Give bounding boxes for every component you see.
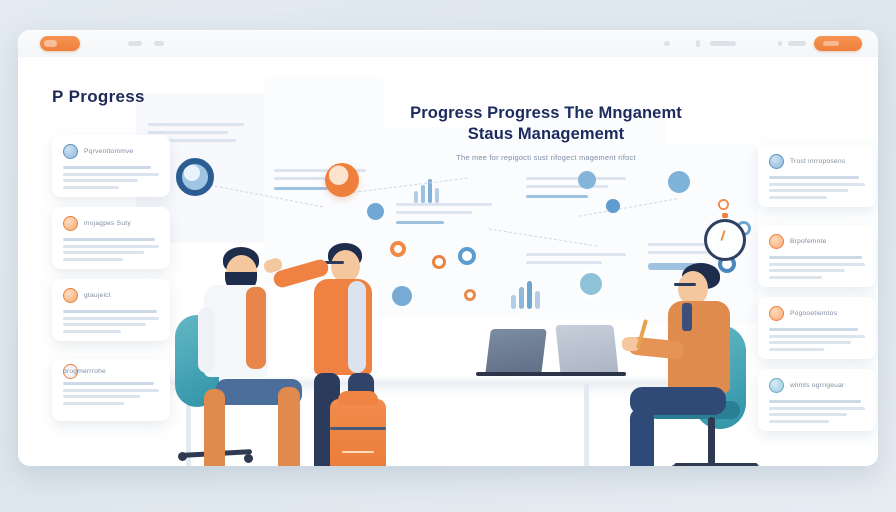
right-card-2-title: Brpofemnte bbox=[790, 238, 827, 245]
screenshot-root: PProgress Progress Progress The Mnganemt… bbox=[0, 0, 896, 512]
left-card-4-lines bbox=[63, 382, 159, 405]
chrome-right-pill-button[interactable] bbox=[814, 36, 862, 51]
logo-mark: P bbox=[52, 87, 64, 106]
laptop-right-lid bbox=[555, 325, 618, 375]
right-card-3-title: Pogooetiemtos bbox=[790, 310, 837, 317]
left-card-1[interactable]: Pqrventtommve bbox=[52, 135, 170, 197]
right-card-1[interactable]: Trost inrroposens bbox=[758, 145, 876, 207]
chrome-dot-4[interactable] bbox=[696, 40, 700, 47]
page-title-line1: Progress Progress The Mnganemt bbox=[410, 104, 682, 122]
gear-icon bbox=[63, 216, 78, 231]
browser-chrome-bar bbox=[18, 30, 878, 58]
right-card-3-lines bbox=[769, 328, 865, 351]
man-left-scarf bbox=[246, 287, 266, 369]
chrome-dot-6[interactable] bbox=[778, 41, 782, 46]
left-card-3-lines bbox=[63, 310, 159, 333]
right-card-4-title: wlimts ogrrigeuar bbox=[790, 382, 844, 389]
gear-icon-blue-1 bbox=[458, 247, 476, 265]
left-card-3[interactable]: gtaujelct bbox=[52, 279, 170, 341]
left-card-4-title: progmerrrohe bbox=[63, 368, 106, 375]
backpack bbox=[330, 399, 386, 466]
chrome-dot-7[interactable] bbox=[788, 41, 806, 46]
page-title: Progress Progress The Mnganemt Staus Man… bbox=[396, 103, 696, 145]
hero-text-block: Progress Progress The Mnganemt Staus Man… bbox=[396, 103, 696, 163]
man-left-arm bbox=[198, 307, 215, 373]
gear-icon-orange-3 bbox=[464, 289, 476, 301]
right-card-4[interactable]: wlimts ogrrigeuar bbox=[758, 369, 876, 431]
chrome-dot-1[interactable] bbox=[128, 41, 142, 46]
right-card-2[interactable]: Brpofemnte bbox=[758, 225, 876, 287]
chart-icon bbox=[769, 306, 784, 321]
cloud-icon bbox=[769, 378, 784, 393]
man-left-shin-2 bbox=[204, 389, 225, 466]
left-card-2-lines bbox=[63, 238, 159, 261]
node-icon-1 bbox=[367, 203, 384, 220]
chrome-left-pill-button[interactable] bbox=[40, 36, 80, 51]
stopwatch-icon bbox=[704, 219, 746, 261]
target-icon bbox=[769, 234, 784, 249]
page-canvas: PProgress Progress Progress The Mnganemt… bbox=[18, 57, 878, 466]
right-card-3[interactable]: Pogooetiemtos bbox=[758, 297, 876, 359]
chair-right-post bbox=[708, 417, 715, 465]
chair-left-caster-2 bbox=[244, 454, 253, 463]
page-subtitle: The mee for repigocti sust rifogect mage… bbox=[396, 152, 696, 163]
chrome-dot-2[interactable] bbox=[154, 41, 164, 46]
node-icon-2 bbox=[578, 171, 596, 189]
left-card-2[interactable]: mojagpes Suty bbox=[52, 207, 170, 269]
spark-icon bbox=[63, 288, 78, 303]
man-right-tie bbox=[682, 303, 692, 331]
node-icon-4 bbox=[668, 171, 690, 193]
man-right-glasses bbox=[674, 283, 696, 286]
logo-text: Progress bbox=[69, 87, 145, 106]
chrome-dot-3[interactable] bbox=[664, 41, 670, 46]
chair-left-caster-1 bbox=[178, 452, 187, 461]
man-standing-shirt bbox=[348, 281, 366, 373]
globe-icon bbox=[176, 158, 214, 196]
gear-icon-orange-1 bbox=[390, 241, 406, 257]
page-logo[interactable]: PProgress bbox=[52, 87, 145, 107]
left-card-2-title: mojagpes Suty bbox=[84, 220, 131, 227]
right-card-1-title: Trost inrroposens bbox=[790, 158, 845, 165]
right-card-4-lines bbox=[769, 400, 865, 423]
gear-icon-orange-2 bbox=[432, 255, 446, 269]
desk-leg-right bbox=[584, 384, 589, 466]
left-card-1-title: Pqrventtommve bbox=[84, 148, 133, 155]
search-icon bbox=[769, 154, 784, 169]
laptop-left-lid bbox=[485, 329, 547, 375]
gear-icon-orange-4 bbox=[718, 199, 729, 210]
laptop-right-base bbox=[548, 372, 626, 376]
node-icon-3 bbox=[606, 199, 620, 213]
chrome-dot-5[interactable] bbox=[710, 41, 736, 46]
man-right-shin bbox=[630, 409, 654, 466]
right-card-1-lines bbox=[769, 176, 865, 199]
left-card-4[interactable]: progmerrrohe bbox=[52, 359, 170, 421]
node-icon-6 bbox=[577, 270, 605, 298]
left-card-3-title: gtaujelct bbox=[84, 292, 111, 299]
laptop-left-base bbox=[476, 372, 552, 376]
chair-right-base bbox=[674, 463, 758, 466]
page-title-line2: Staus Managememt bbox=[468, 125, 625, 143]
chair-right-caster-2 bbox=[752, 465, 761, 466]
node-icon-5 bbox=[392, 286, 412, 306]
target-orange-icon bbox=[325, 163, 359, 197]
left-card-1-lines bbox=[63, 166, 159, 189]
man-left-shin bbox=[278, 387, 300, 466]
browser-window: PProgress Progress Progress The Mnganemt… bbox=[18, 30, 878, 466]
board-panel-b bbox=[264, 77, 384, 287]
globe-icon bbox=[63, 144, 78, 159]
right-card-2-lines bbox=[769, 256, 865, 279]
